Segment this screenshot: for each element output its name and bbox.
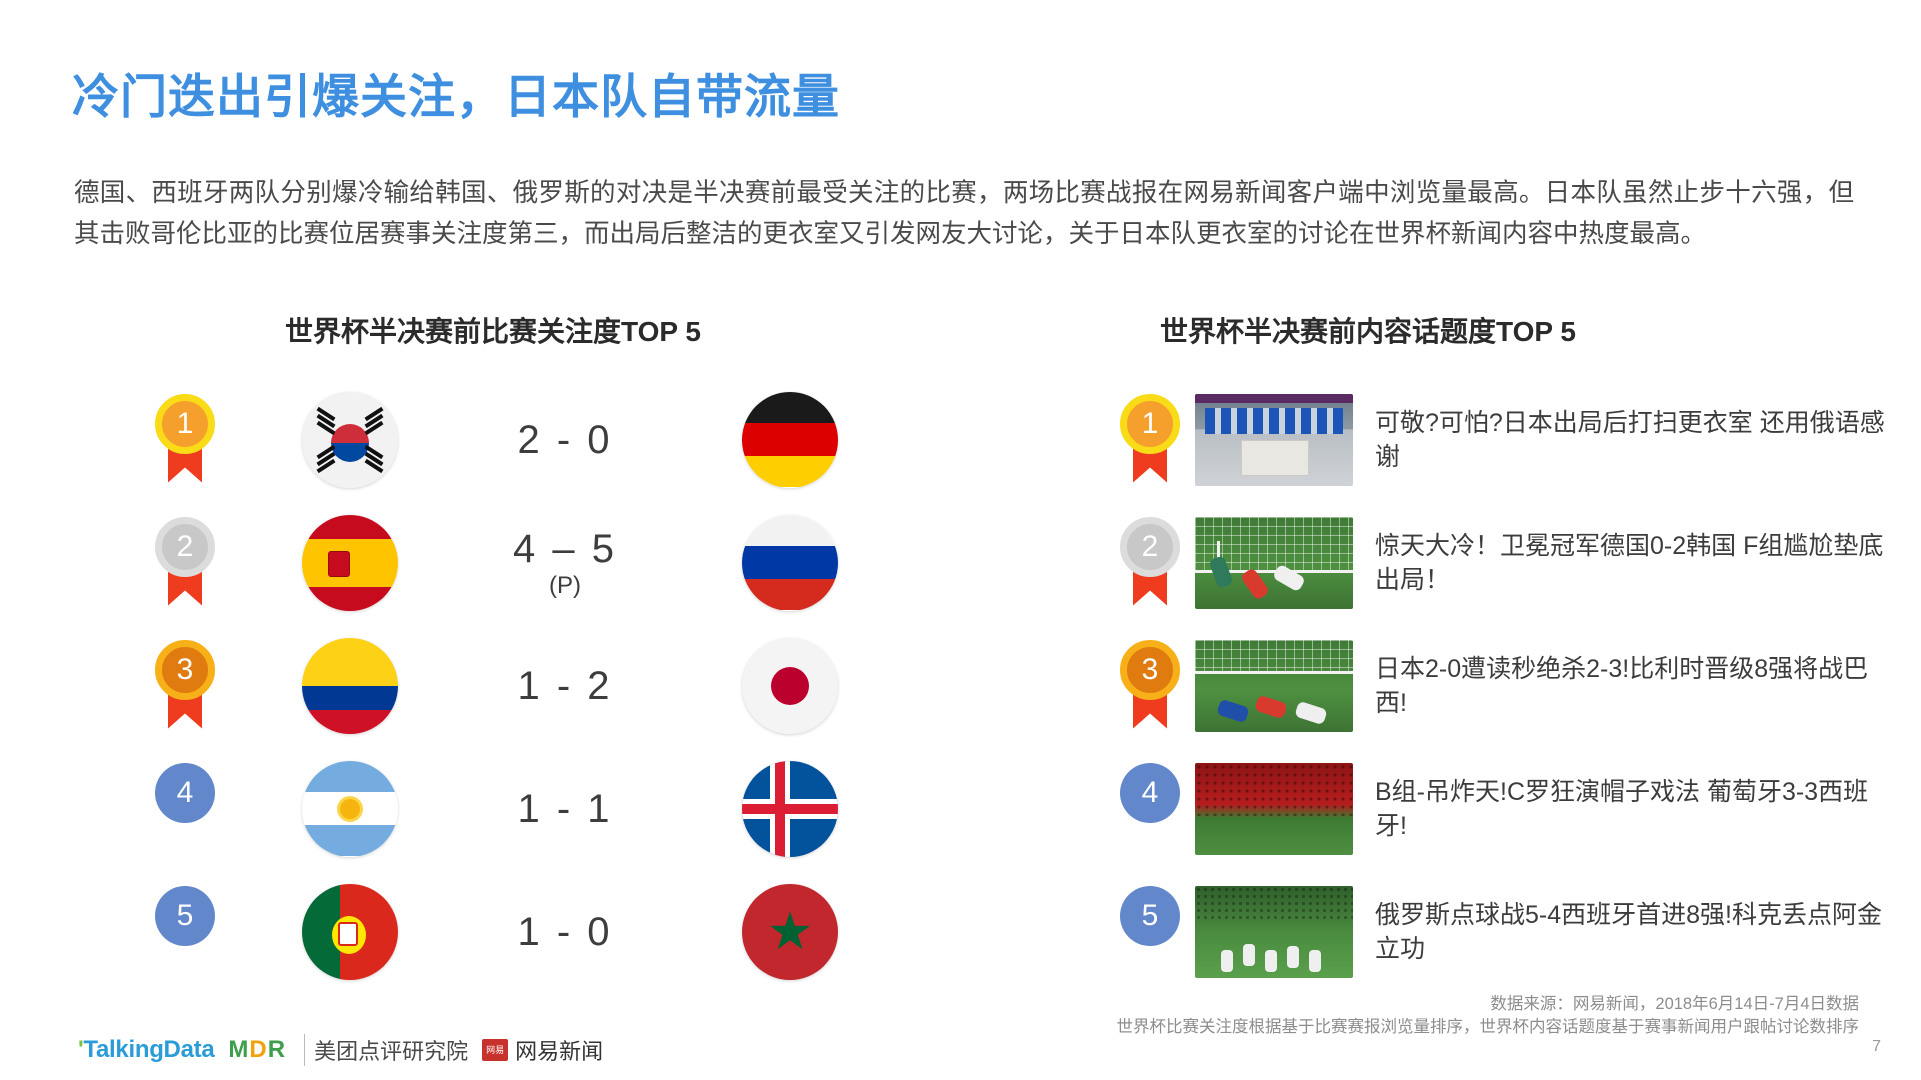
rank-number: 3 [155,640,215,700]
away-flag-cell [680,638,900,734]
rank-cell: 3 [120,640,250,732]
table-row: 1 2 - 0 [120,378,930,501]
flag-icon-colombia [302,638,398,734]
score-cell: 2 - 0 [450,417,680,463]
page-number: 7 [1872,1038,1881,1056]
source-note-line-1: 数据来源：网易新闻，2018年6月14日-7月4日数据 [1490,990,1859,1014]
right-panel-heading: 世界杯半决赛前内容话题度TOP 5 [1160,310,1576,350]
score-cell: 4 – 5 (P) [450,526,680,600]
match-attention-list: 1 2 - 0 [120,378,930,993]
rank-number: 2 [1120,517,1180,577]
medal-icon-bronze: 3 [154,640,216,732]
thumbnail-japan-belgium [1195,640,1353,732]
logo-mdr-name: 美团点评研究院 [304,1034,468,1066]
thumbnail-russia-celebrate [1195,886,1353,978]
rank-cell: 1 [120,394,250,486]
away-flag-cell [680,515,900,611]
list-item[interactable]: 3 日本2-0遭读秒绝杀2-3!比利时晋级8强将战巴西! [1105,624,1895,747]
left-panel-heading: 世界杯半决赛前比赛关注度TOP 5 [285,310,701,350]
rank-cell: 4 [120,763,250,855]
rank-number: 1 [155,394,215,454]
table-row: 5 1 - 0 ★ [120,870,930,993]
medal-icon-gold: 1 [154,394,216,486]
score-cell: 1 - 1 [450,786,680,832]
page-title: 冷门迭出引爆关注，日本队自带流量 [72,58,840,127]
score-cell: 1 - 2 [450,663,680,709]
score-value: 2 - 0 [450,417,680,463]
table-row: 4 1 - 1 [120,747,930,870]
flag-icon-spain [302,515,398,611]
flag-icon-iceland [742,761,838,857]
rank-cell: 5 [1105,886,1195,978]
rank-cell: 4 [1105,763,1195,855]
rank-badge-4: 4 [154,763,216,855]
list-item[interactable]: 5 俄罗斯点球战5-4西班牙首进8强!科克丢点阿金立功 [1105,870,1895,993]
home-flag-cell [250,761,450,857]
table-row: 2 4 – 5 (P) [120,501,930,624]
rank-number: 4 [1120,763,1180,823]
flag-icon-russia [742,515,838,611]
home-flag-cell [250,515,450,611]
rank-badge-4: 4 [1119,763,1181,855]
rank-cell: 5 [120,886,250,978]
list-item[interactable]: 1 可敬?可怕?日本出局后打扫更衣室 还用俄语感谢 [1105,378,1895,501]
rank-number: 3 [1120,640,1180,700]
rank-cell: 1 [1105,394,1195,486]
home-flag-cell [250,392,450,488]
topic-popularity-list: 1 可敬?可怕?日本出局后打扫更衣室 还用俄语感谢 2 惊天大冷！卫冕冠军德国0… [1105,378,1895,993]
flag-icon-portugal [302,884,398,980]
rank-cell: 2 [1105,517,1195,609]
list-item[interactable]: 4 B组-吊炸天!C罗狂演帽子戏法 葡萄牙3-3西班牙! [1105,747,1895,870]
rank-number: 1 [1120,394,1180,454]
medal-icon-silver: 2 [1119,517,1181,609]
medal-icon-silver: 2 [154,517,216,609]
footer-logos: 'TalkingData MDR 美团点评研究院 网易 网易新闻 [78,1034,603,1066]
medal-icon-gold: 1 [1119,394,1181,486]
logo-mdr-mark: MDR [228,1036,286,1064]
home-flag-cell [250,884,450,980]
intro-paragraph: 德国、西班牙两队分别爆冷输给韩国、俄罗斯的对决是半决赛前最受关注的比赛，两场比赛… [74,173,1854,255]
medal-icon-bronze: 3 [1119,640,1181,732]
topic-title: B组-吊炸天!C罗狂演帽子戏法 葡萄牙3-3西班牙! [1375,775,1895,843]
topic-title: 俄罗斯点球战5-4西班牙首进8强!科克丢点阿金立功 [1375,898,1895,966]
flag-icon-germany [742,392,838,488]
away-flag-cell [680,392,900,488]
flag-icon-argentina [302,761,398,857]
thumbnail-goal-save [1195,517,1353,609]
score-cell: 1 - 0 [450,909,680,955]
flag-icon-south-korea [302,392,398,488]
rank-badge-5: 5 [154,886,216,978]
topic-title: 惊天大冷！卫冕冠军德国0-2韩国 F组尴尬垫底出局！ [1375,529,1895,597]
topic-title: 日本2-0遭读秒绝杀2-3!比利时晋级8强将战巴西! [1375,652,1895,720]
rank-number: 5 [155,886,215,946]
rank-badge-5: 5 [1119,886,1181,978]
score-value: 1 - 0 [450,909,680,955]
rank-number: 2 [155,517,215,577]
table-row: 3 1 - 2 [120,624,930,747]
logo-netease-name: 网易新闻 [515,1034,603,1066]
flag-icon-japan [742,638,838,734]
thumbnail-portugal-crowd [1195,763,1353,855]
logo-talkingdata-text: TalkingData [83,1036,214,1063]
score-value: 1 - 2 [450,663,680,709]
score-value: 1 - 1 [450,786,680,832]
flag-icon-morocco: ★ [742,884,838,980]
score-value: 4 – 5 [450,526,680,572]
rank-number: 5 [1120,886,1180,946]
logo-talkingdata: 'TalkingData [78,1036,214,1064]
rank-cell: 2 [120,517,250,609]
topic-title: 可敬?可怕?日本出局后打扫更衣室 还用俄语感谢 [1375,406,1895,474]
source-note-line-2: 世界杯比赛关注度根据基于比赛赛报浏览量排序，世界杯内容话题度基于赛事新闻用户跟帖… [1117,1013,1860,1037]
netease-mark-icon: 网易 [482,1039,508,1061]
rank-cell: 3 [1105,640,1195,732]
thumbnail-locker-room [1195,394,1353,486]
away-flag-cell: ★ [680,884,900,980]
home-flag-cell [250,638,450,734]
logo-netease: 网易 网易新闻 [482,1034,603,1066]
rank-number: 4 [155,763,215,823]
away-flag-cell [680,761,900,857]
score-note: (P) [450,572,680,600]
list-item[interactable]: 2 惊天大冷！卫冕冠军德国0-2韩国 F组尴尬垫底出局！ [1105,501,1895,624]
